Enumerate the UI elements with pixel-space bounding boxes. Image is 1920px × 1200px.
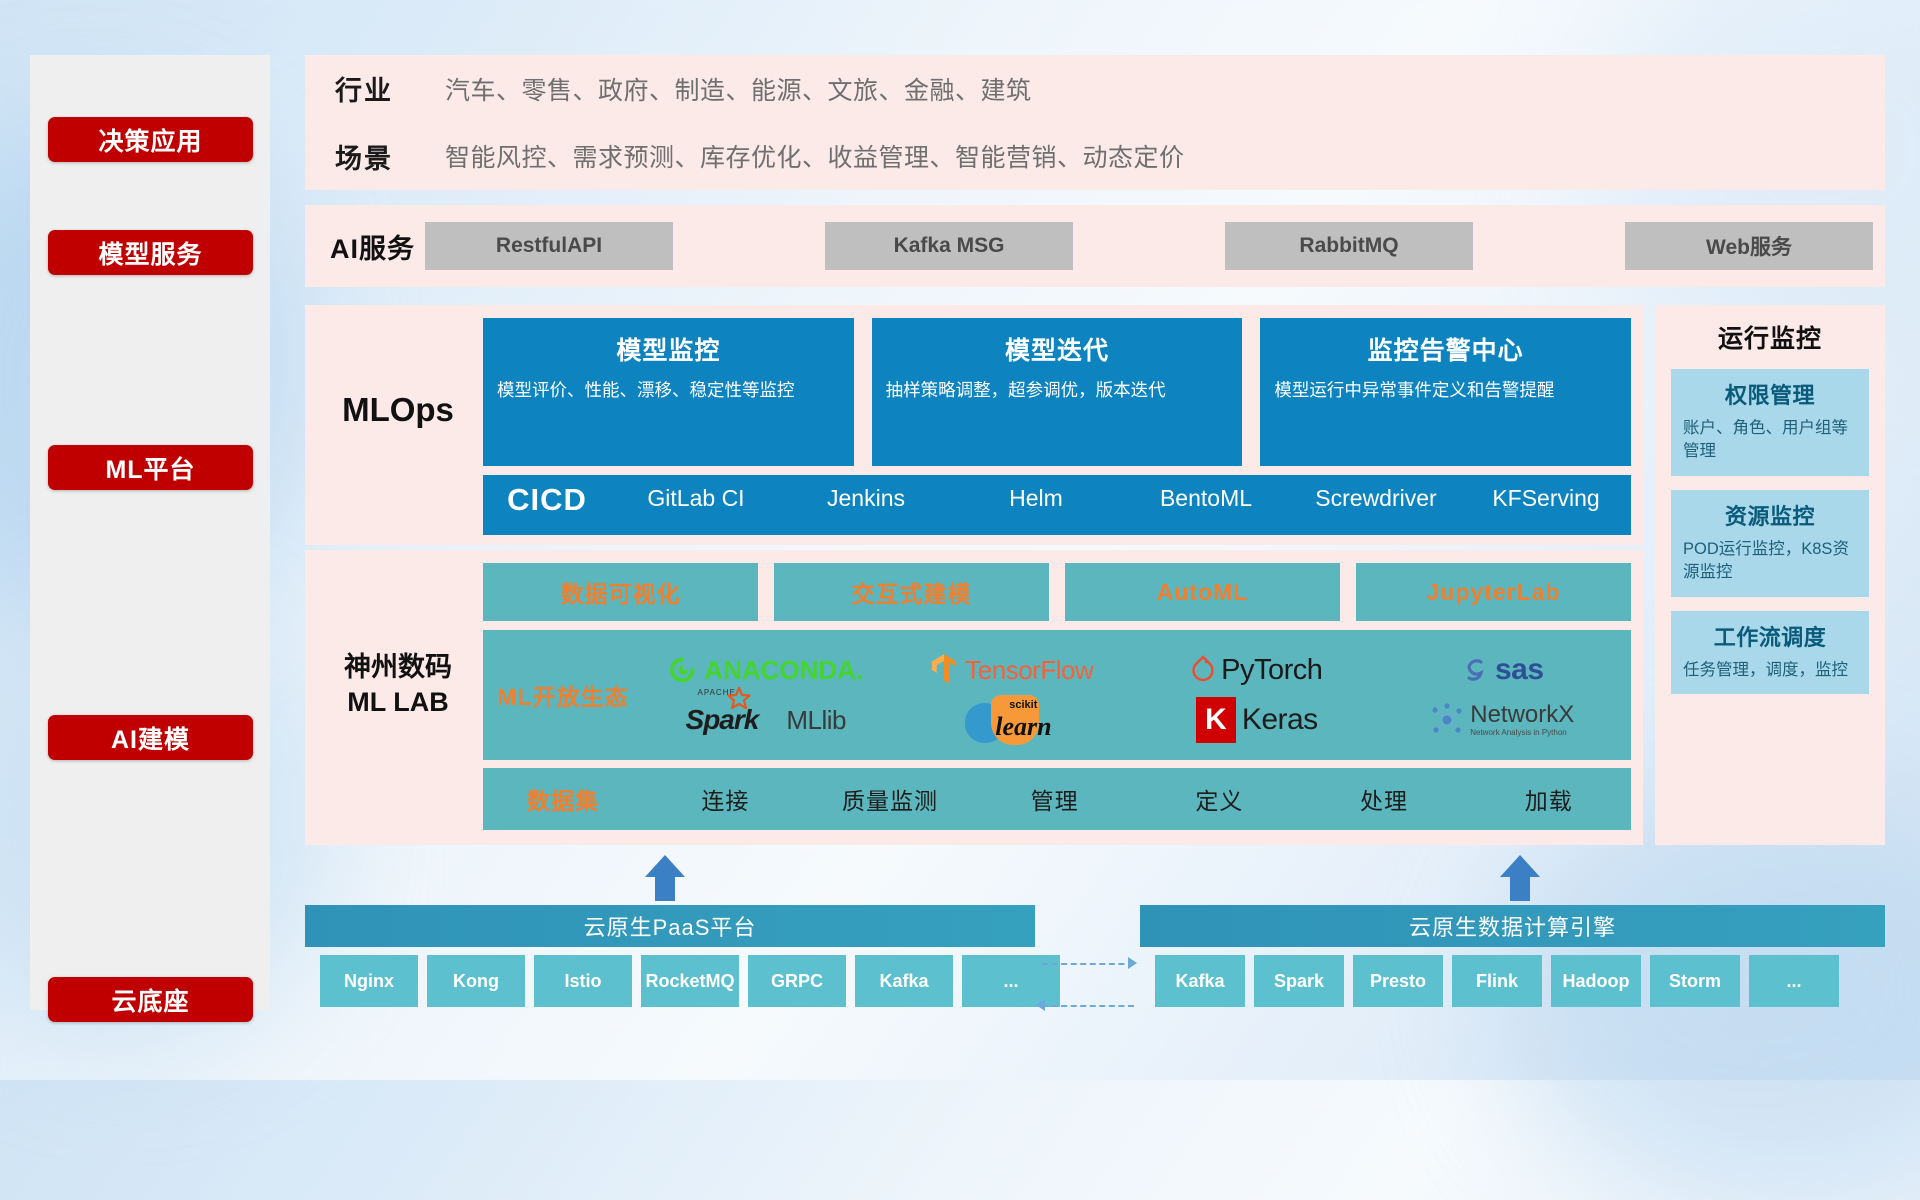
- runtime-monitor-panel: 运行监控 权限管理 账户、角色、用户组等管理 资源监控 POD运行监控，K8S资…: [1655, 305, 1885, 845]
- architecture-diagram: 决策应用 模型服务 ML平台 AI建模 云底座 行业 汽车、零售、政府、制造、能…: [0, 0, 1920, 1080]
- ai-service-panel: AI服务 RestfulAPI Kafka MSG RabbitMQ Web服务: [305, 205, 1885, 287]
- sidebar-item-model-service[interactable]: 模型服务: [48, 230, 253, 275]
- tensorflow-icon: [929, 653, 959, 687]
- card-desc: 抽样策略调整，超参调优，版本迭代: [886, 378, 1229, 403]
- mlops-card-alert-center[interactable]: 监控告警中心 模型运行中异常事件定义和告警提醒: [1260, 318, 1631, 466]
- paas-chip-kong[interactable]: Kong: [427, 955, 525, 1007]
- sidebar-item-label: 决策应用: [98, 122, 202, 158]
- sidebar-item-label: ML平台: [105, 450, 195, 486]
- mlops-card-model-iteration[interactable]: 模型迭代 抽样策略调整，超参调优，版本迭代: [872, 318, 1243, 466]
- engine-chip-flink[interactable]: Flink: [1452, 955, 1542, 1007]
- ml-ecosystem-label: ML开放生态: [483, 678, 643, 712]
- cicd-item-gitlab-ci[interactable]: GitLab CI: [611, 482, 781, 512]
- cicd-item-screwdriver[interactable]: Screwdriver: [1291, 482, 1461, 512]
- spark-mllib-logo: APACHE Spark MLlib: [686, 704, 846, 736]
- ml-lab-tools-row: 数据可视化 交互式建模 AutoML JupyterLab: [483, 563, 1631, 621]
- ml-lab-tool-data-visualization[interactable]: 数据可视化: [483, 563, 758, 621]
- card-desc: 模型评价、性能、漂移、稳定性等监控: [497, 378, 840, 403]
- cicd-item-helm[interactable]: Helm: [951, 482, 1121, 512]
- networkx-icon: [1430, 703, 1464, 737]
- cloud-paas-bar[interactable]: 云原生PaaS平台: [305, 905, 1035, 947]
- keras-logo: K Keras: [1196, 697, 1318, 743]
- sas-text: sas: [1495, 653, 1544, 687]
- dataset-item-loading[interactable]: 加载: [1466, 782, 1631, 816]
- engine-chip-spark[interactable]: Spark: [1254, 955, 1344, 1007]
- learn-text: learn: [995, 712, 1051, 742]
- card-title: 模型迭代: [886, 331, 1229, 367]
- cloud-data-engine-bar[interactable]: 云原生数据计算引擎: [1140, 905, 1885, 947]
- networkx-logo: NetworkX Network Analysis in Python: [1430, 703, 1574, 737]
- ml-ecosystem-row: ML开放生态 ANACONDA. TensorFlow: [483, 630, 1631, 760]
- card-title: 模型监控: [497, 331, 840, 367]
- cicd-item-jenkins[interactable]: Jenkins: [781, 482, 951, 512]
- engine-chip-storm[interactable]: Storm: [1650, 955, 1740, 1007]
- paas-chip-rocketmq[interactable]: RocketMQ: [641, 955, 739, 1007]
- ai-service-item-restfulapi[interactable]: RestfulAPI: [425, 222, 673, 270]
- sas-icon: [1461, 656, 1489, 684]
- anaconda-logo: ANACONDA.: [668, 655, 863, 686]
- sidebar-item-label: 云底座: [111, 982, 189, 1018]
- cicd-bar: CICD GitLab CI Jenkins Helm BentoML Scre…: [483, 475, 1631, 535]
- ml-lab-tool-jupyterlab[interactable]: JupyterLab: [1356, 563, 1631, 621]
- tensorflow-text: TensorFlow: [965, 655, 1093, 686]
- networkx-tagline: Network Analysis in Python: [1470, 729, 1574, 737]
- ai-service-item-web-service[interactable]: Web服务: [1625, 222, 1873, 270]
- data-engine-chip-row: Kafka Spark Presto Flink Hadoop Storm ..…: [1155, 955, 1839, 1007]
- card-desc: 任务管理，调度，监控: [1683, 659, 1857, 682]
- connector-dashed-left: [1042, 1005, 1134, 1007]
- pytorch-text: PyTorch: [1221, 654, 1322, 687]
- anaconda-text: ANACONDA.: [704, 655, 863, 686]
- industry-value: 汽车、零售、政府、制造、能源、文旅、金融、建筑: [445, 71, 1032, 107]
- scenario-value: 智能风控、需求预测、库存优化、收益管理、智能营销、动态定价: [445, 138, 1185, 174]
- sidebar-item-cloud-base[interactable]: 云底座: [48, 977, 253, 1022]
- industry-scenario-panel: 行业 汽车、零售、政府、制造、能源、文旅、金融、建筑 场景 智能风控、需求预测、…: [305, 55, 1885, 190]
- dataset-row: 数据集 连接 质量监测 管理 定义 处理 加载: [483, 768, 1631, 830]
- scikit-learn-logo: scikit learn: [965, 695, 1057, 745]
- industry-row: 行业 汽车、零售、政府、制造、能源、文旅、金融、建筑: [305, 55, 1885, 123]
- dataset-label: 数据集: [483, 782, 643, 816]
- networkx-text: NetworkX: [1470, 703, 1574, 727]
- sidebar-item-ai-modeling[interactable]: AI建模: [48, 715, 253, 760]
- pytorch-icon: [1191, 655, 1215, 685]
- paas-chip-row: Nginx Kong Istio RocketMQ GRPC Kafka ...: [320, 955, 1060, 1007]
- dataset-item-management[interactable]: 管理: [972, 782, 1137, 816]
- paas-chip-nginx[interactable]: Nginx: [320, 955, 418, 1007]
- connector-dashed-right: [1042, 963, 1134, 965]
- sidebar-item-label: 模型服务: [98, 235, 202, 271]
- ai-service-label: AI服务: [305, 227, 415, 266]
- scikit-text: scikit: [1009, 699, 1037, 711]
- card-desc: 账户、角色、用户组等管理: [1683, 417, 1857, 464]
- engine-chip-more[interactable]: ...: [1749, 955, 1839, 1007]
- keras-k-text: K: [1205, 703, 1227, 737]
- monitor-card-resource[interactable]: 资源监控 POD运行监控，K8S资源监控: [1671, 490, 1869, 597]
- up-arrow-icon: [1500, 855, 1540, 901]
- dataset-item-quality-monitoring[interactable]: 质量监测: [808, 782, 973, 816]
- card-desc: POD运行监控，K8S资源监控: [1683, 538, 1857, 585]
- dataset-item-definition[interactable]: 定义: [1137, 782, 1302, 816]
- dataset-item-processing[interactable]: 处理: [1302, 782, 1467, 816]
- connector-arrow-right-icon: [1128, 957, 1137, 969]
- ai-service-item-rabbitmq[interactable]: RabbitMQ: [1225, 222, 1473, 270]
- pytorch-logo: PyTorch: [1191, 654, 1322, 687]
- layer-rail: 决策应用 模型服务 ML平台 AI建模 云底座: [30, 55, 270, 1010]
- engine-chip-presto[interactable]: Presto: [1353, 955, 1443, 1007]
- ml-lab-label-line1: 神州数码: [317, 650, 479, 685]
- paas-chip-istio[interactable]: Istio: [534, 955, 632, 1007]
- up-arrow-icon: [645, 855, 685, 901]
- dataset-item-connect[interactable]: 连接: [643, 782, 808, 816]
- ml-lab-label: 神州数码 ML LAB: [317, 650, 479, 719]
- ml-lab-tool-automl[interactable]: AutoML: [1065, 563, 1340, 621]
- monitor-card-permission[interactable]: 权限管理 账户、角色、用户组等管理: [1671, 369, 1869, 476]
- engine-chip-hadoop[interactable]: Hadoop: [1551, 955, 1641, 1007]
- ai-service-item-kafka-msg[interactable]: Kafka MSG: [825, 222, 1073, 270]
- keras-text: Keras: [1242, 703, 1318, 737]
- mlops-card-model-monitoring[interactable]: 模型监控 模型评价、性能、漂移、稳定性等监控: [483, 318, 854, 466]
- anaconda-icon: [668, 655, 698, 685]
- paas-chip-kafka[interactable]: Kafka: [855, 955, 953, 1007]
- sidebar-item-decision-app[interactable]: 决策应用: [48, 117, 253, 162]
- mlops-panel: MLOps 模型监控 模型评价、性能、漂移、稳定性等监控 模型迭代 抽样策略调整…: [305, 305, 1643, 545]
- card-desc: 模型运行中异常事件定义和告警提醒: [1274, 378, 1617, 403]
- cicd-item-kfserving[interactable]: KFServing: [1461, 482, 1631, 512]
- ml-lab-label-line2: ML LAB: [317, 685, 479, 720]
- cicd-item-bentoml[interactable]: BentoML: [1121, 482, 1291, 512]
- scenario-row: 场景 智能风控、需求预测、库存优化、收益管理、智能营销、动态定价: [305, 123, 1885, 191]
- paas-chip-grpc[interactable]: GRPC: [748, 955, 846, 1007]
- runtime-monitor-title: 运行监控: [1655, 305, 1885, 355]
- ml-lab-tool-interactive-modeling[interactable]: 交互式建模: [774, 563, 1049, 621]
- card-title: 监控告警中心: [1274, 331, 1617, 367]
- sidebar-item-label: AI建模: [111, 720, 190, 756]
- sas-logo: sas: [1461, 653, 1544, 687]
- tensorflow-logo: TensorFlow: [929, 653, 1093, 687]
- card-title: 权限管理: [1683, 378, 1857, 410]
- sidebar-item-ml-platform[interactable]: ML平台: [48, 445, 253, 490]
- mllib-text: MLlib: [786, 705, 846, 736]
- connector-arrow-left-icon: [1036, 999, 1045, 1011]
- mlops-label: MLOps: [323, 391, 473, 429]
- monitor-card-workflow[interactable]: 工作流调度 任务管理，调度，监控: [1671, 611, 1869, 694]
- card-title: 资源监控: [1683, 499, 1857, 531]
- ml-lab-panel: 神州数码 ML LAB 数据可视化 交互式建模 AutoML JupyterLa…: [305, 550, 1643, 845]
- spark-star-icon: [726, 686, 752, 712]
- industry-label: 行业: [335, 69, 445, 108]
- cicd-label: CICD: [483, 482, 611, 518]
- scenario-label: 场景: [335, 137, 445, 176]
- engine-chip-kafka[interactable]: Kafka: [1155, 955, 1245, 1007]
- card-title: 工作流调度: [1683, 620, 1857, 652]
